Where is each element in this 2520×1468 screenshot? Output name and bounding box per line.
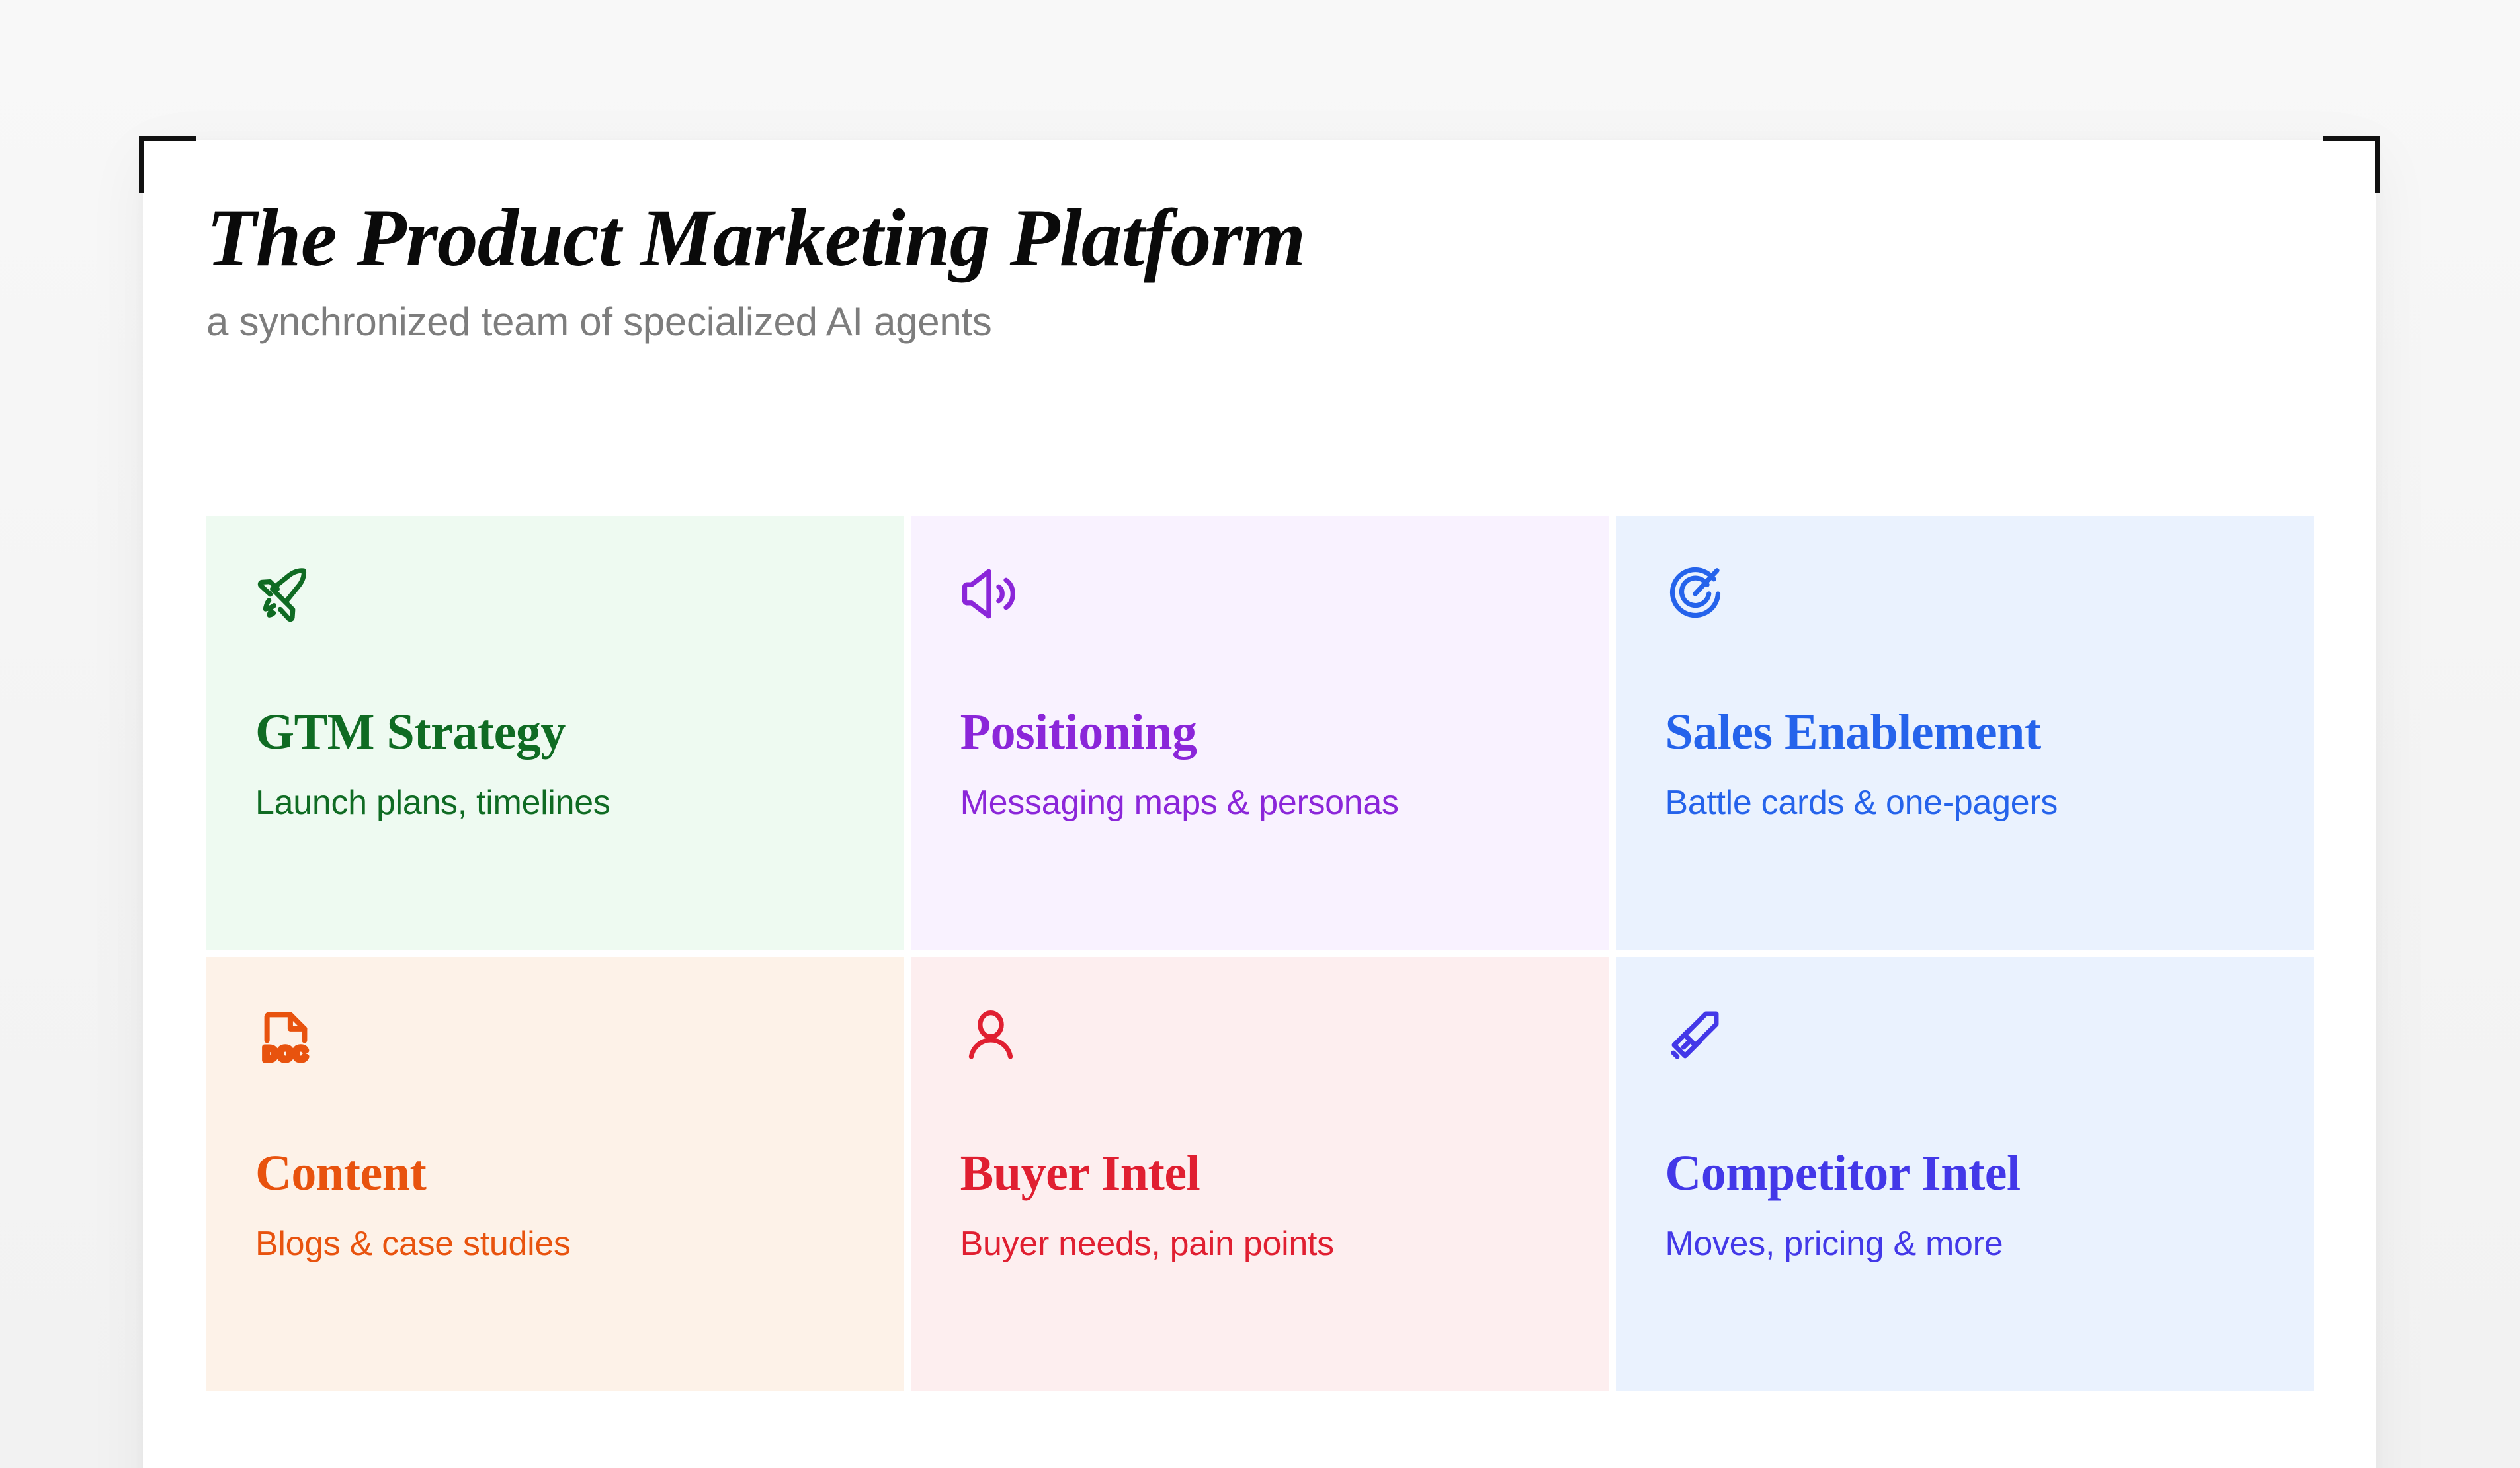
agent-description: Launch plans, timelines [255, 782, 858, 825]
agent-card-competitor-intel[interactable]: Competitor Intel Moves, pricing & more [1616, 957, 2314, 1391]
document-icon: DOC [255, 1004, 316, 1065]
corner-bracket-top-right [2323, 136, 2380, 193]
agent-title: Content [255, 1146, 858, 1200]
megaphone-icon [960, 563, 1021, 624]
agent-description: Buyer needs, pain points [960, 1223, 1563, 1266]
page-subtitle: a synchronized team of specialized AI ag… [206, 298, 2257, 346]
agent-card-sales-enablement[interactable]: Sales Enablement Battle cards & one-page… [1616, 516, 2314, 950]
person-icon [960, 1004, 1021, 1065]
svg-text:DOC: DOC [263, 1044, 308, 1065]
page-title: The Product Marketing Platform [206, 194, 2257, 281]
page-header: The Product Marketing Platform a synchro… [206, 194, 2257, 346]
agent-title: Buyer Intel [960, 1146, 1563, 1200]
agent-description: Battle cards & one-pagers [1665, 782, 2267, 825]
agent-card-gtm-strategy[interactable]: GTM Strategy Launch plans, timelines [206, 516, 904, 950]
agent-grid: GTM Strategy Launch plans, timelines Pos… [206, 516, 2314, 1391]
corner-bracket-top-left [139, 136, 196, 193]
rocket-icon [255, 563, 316, 624]
agent-card-buyer-intel[interactable]: Buyer Intel Buyer needs, pain points [911, 957, 1609, 1391]
agent-title: Sales Enablement [1665, 705, 2267, 759]
agent-card-positioning[interactable]: Positioning Messaging maps & personas [911, 516, 1609, 950]
agent-title: Competitor Intel [1665, 1146, 2267, 1200]
agent-description: Blogs & case studies [255, 1223, 858, 1266]
sword-icon [1665, 1004, 1726, 1065]
target-icon [1665, 563, 1726, 624]
agent-title: GTM Strategy [255, 705, 858, 759]
agent-description: Moves, pricing & more [1665, 1223, 2267, 1266]
agent-card-content[interactable]: DOC Content Blogs & case studies [206, 957, 904, 1391]
agent-description: Messaging maps & personas [960, 782, 1563, 825]
agent-title: Positioning [960, 705, 1563, 759]
content-panel: The Product Marketing Platform a synchro… [143, 140, 2376, 1468]
